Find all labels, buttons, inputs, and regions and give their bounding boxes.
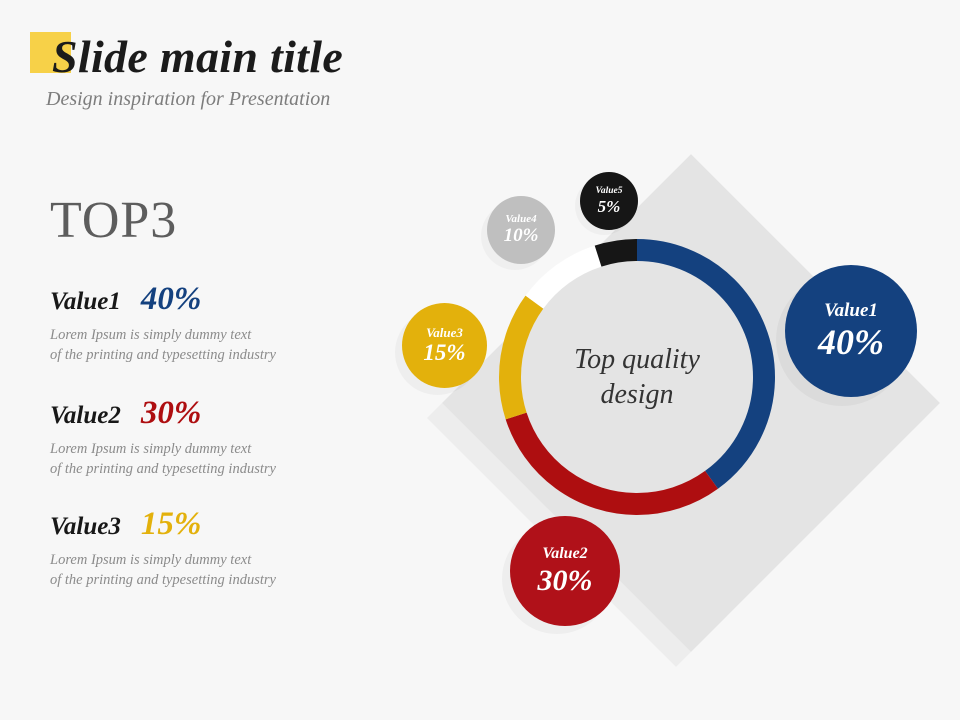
- donut-chart: Top quality design: [498, 238, 776, 516]
- value-block-2: Value2 30% Lorem Ipsum is simply dummy t…: [50, 397, 360, 479]
- value-block-3: Value3 15% Lorem Ipsum is simply dummy t…: [50, 508, 360, 590]
- value-3-header: Value3 15%: [50, 508, 360, 544]
- donut-hub: [521, 261, 753, 493]
- value-2-header: Value2 30%: [50, 397, 360, 433]
- value-2-percent: 30%: [141, 397, 202, 430]
- value-1-name: Value1: [50, 288, 121, 316]
- value-3-percent: 15%: [141, 508, 202, 541]
- bubble-value5-name: Value5: [596, 187, 623, 197]
- value-1-description: Lorem Ipsum is simply dummy text of the …: [50, 326, 360, 365]
- page-subtitle: Design inspiration for Presentation: [46, 88, 330, 111]
- value-3-description: Lorem Ipsum is simply dummy text of the …: [50, 551, 360, 590]
- bubble-value2[interactable]: Value2 30%: [510, 516, 620, 626]
- bubble-value3[interactable]: Value3 15%: [402, 303, 487, 388]
- bubble-value1-name: Value1: [824, 301, 878, 321]
- value-3-name: Value3: [50, 513, 121, 541]
- bubble-value3-percent: 15%: [423, 341, 465, 365]
- bubble-value1[interactable]: Value1 40%: [785, 265, 917, 397]
- bubble-value5-percent: 5%: [598, 198, 621, 216]
- bubble-value2-percent: 30%: [538, 565, 593, 597]
- value-block-1: Value1 40% Lorem Ipsum is simply dummy t…: [50, 283, 360, 365]
- value-2-desc-line-2: of the printing and typesetting industry: [50, 460, 360, 480]
- bubble-value4-name: Value4: [505, 214, 536, 226]
- value-3-desc-line-1: Lorem Ipsum is simply dummy text: [50, 551, 360, 571]
- value-1-desc-line-1: Lorem Ipsum is simply dummy text: [50, 326, 360, 346]
- page-title: Slide main title: [52, 33, 343, 81]
- top3-heading: TOP3: [50, 195, 177, 247]
- value-1-percent: 40%: [141, 283, 202, 316]
- value-1-header: Value1 40%: [50, 283, 360, 319]
- value-2-description: Lorem Ipsum is simply dummy text of the …: [50, 440, 360, 479]
- bubble-value5[interactable]: Value5 5%: [580, 172, 638, 230]
- bubble-value4-percent: 10%: [504, 226, 539, 246]
- slide-canvas: Slide main title Design inspiration for …: [0, 0, 960, 720]
- bubble-value4[interactable]: Value4 10%: [487, 196, 555, 264]
- bubble-value1-percent: 40%: [818, 324, 884, 362]
- bubble-value3-name: Value3: [426, 326, 463, 340]
- bubble-value2-name: Value2: [542, 546, 587, 563]
- value-1-desc-line-2: of the printing and typesetting industry: [50, 346, 360, 366]
- value-3-desc-line-2: of the printing and typesetting industry: [50, 571, 360, 591]
- value-2-desc-line-1: Lorem Ipsum is simply dummy text: [50, 440, 360, 460]
- value-2-name: Value2: [50, 402, 121, 430]
- donut-svg: [498, 238, 776, 516]
- donut-chart-graphic: Top quality design Value1 40% Value2 30%…: [340, 95, 960, 675]
